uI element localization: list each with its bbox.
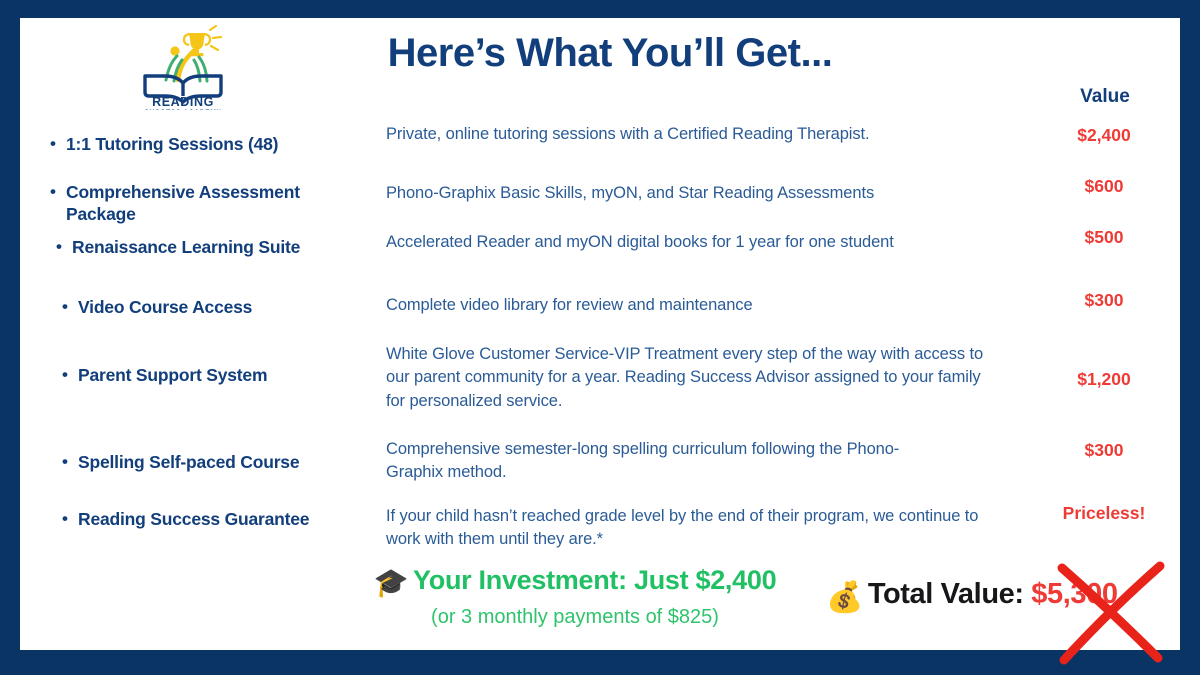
feature-label: Video Course Access bbox=[78, 297, 252, 317]
bullet-icon: • bbox=[62, 364, 68, 386]
bullet-icon: • bbox=[62, 508, 68, 530]
bullet-icon: • bbox=[50, 181, 56, 203]
feature-item-7: • Reading Success Guarantee bbox=[78, 508, 378, 530]
graduation-cap-icon: 🎓 bbox=[374, 567, 409, 598]
feature-label: Reading Success Guarantee bbox=[78, 509, 309, 529]
logo-word-success-academy: SUCCESS ACADEMY bbox=[144, 109, 221, 110]
total-value-line: 💰 Total Value: $5,300 bbox=[826, 578, 1118, 615]
bullet-icon: • bbox=[62, 296, 68, 318]
dot-accent-icon bbox=[170, 46, 179, 55]
bullet-icon: • bbox=[50, 133, 56, 155]
feature-label: Comprehensive Assessment Package bbox=[66, 182, 300, 224]
page-title: Here’s What You’ll Get... bbox=[260, 31, 960, 76]
money-bag-icon: 💰 bbox=[826, 581, 863, 614]
feature-value-2: $600 bbox=[1028, 176, 1180, 197]
feature-description-5: White Glove Customer Service-VIP Treatme… bbox=[386, 343, 991, 413]
total-value-amount: $5,300 bbox=[1031, 578, 1117, 610]
total-value-label: Total Value: bbox=[868, 578, 1031, 610]
feature-value-4: $300 bbox=[1028, 290, 1180, 311]
feature-description-2: Phono-Graphix Basic Skills, myON, and St… bbox=[386, 182, 996, 205]
feature-label: Spelling Self-paced Course bbox=[78, 452, 299, 472]
investment-subtext: (or 3 monthly payments of $825) bbox=[330, 606, 820, 629]
feature-item-2: • Comprehensive Assessment Package bbox=[66, 181, 336, 226]
feature-description-1: Private, online tutoring sessions with a… bbox=[386, 123, 996, 146]
bullet-icon: • bbox=[62, 451, 68, 473]
feature-item-3: • Renaissance Learning Suite bbox=[72, 236, 362, 258]
sparkle-rays-icon bbox=[210, 26, 221, 50]
feature-value-3: $500 bbox=[1028, 227, 1180, 248]
slide-root: READING SUCCESS ACADEMY Here’s What You’… bbox=[0, 0, 1200, 675]
investment-line: 🎓 Your Investment: Just $2,400 bbox=[330, 565, 820, 599]
feature-description-7: If your child hasn’t reached grade level… bbox=[386, 505, 991, 552]
feature-label: Renaissance Learning Suite bbox=[72, 237, 300, 257]
value-column-header: Value bbox=[1030, 86, 1180, 108]
feature-item-4: • Video Course Access bbox=[78, 296, 368, 318]
feature-description-6: Comprehensive semester-long spelling cur… bbox=[386, 438, 946, 485]
feature-value-7: Priceless! bbox=[1028, 503, 1180, 524]
feature-item-6: • Spelling Self-paced Course bbox=[78, 451, 368, 473]
bullet-icon: • bbox=[56, 236, 62, 258]
feature-description-3: Accelerated Reader and myON digital book… bbox=[386, 231, 916, 254]
feature-value-1: $2,400 bbox=[1028, 125, 1180, 146]
logo-word-reading: READING bbox=[152, 95, 214, 109]
feature-value-6: $300 bbox=[1028, 440, 1180, 461]
feature-item-1: • 1:1 Tutoring Sessions (48) bbox=[66, 133, 366, 155]
investment-text: Your Investment: Just $2,400 bbox=[413, 565, 776, 595]
feature-label: Parent Support System bbox=[78, 365, 267, 385]
feature-label: 1:1 Tutoring Sessions (48) bbox=[66, 134, 278, 154]
feature-value-5: $1,200 bbox=[1028, 369, 1180, 390]
reading-success-academy-logo: READING SUCCESS ACADEMY bbox=[133, 24, 233, 110]
trophy-icon bbox=[184, 33, 210, 56]
feature-item-5: • Parent Support System bbox=[78, 364, 368, 386]
feature-description-4: Complete video library for review and ma… bbox=[386, 294, 996, 317]
content-card bbox=[20, 18, 1180, 650]
